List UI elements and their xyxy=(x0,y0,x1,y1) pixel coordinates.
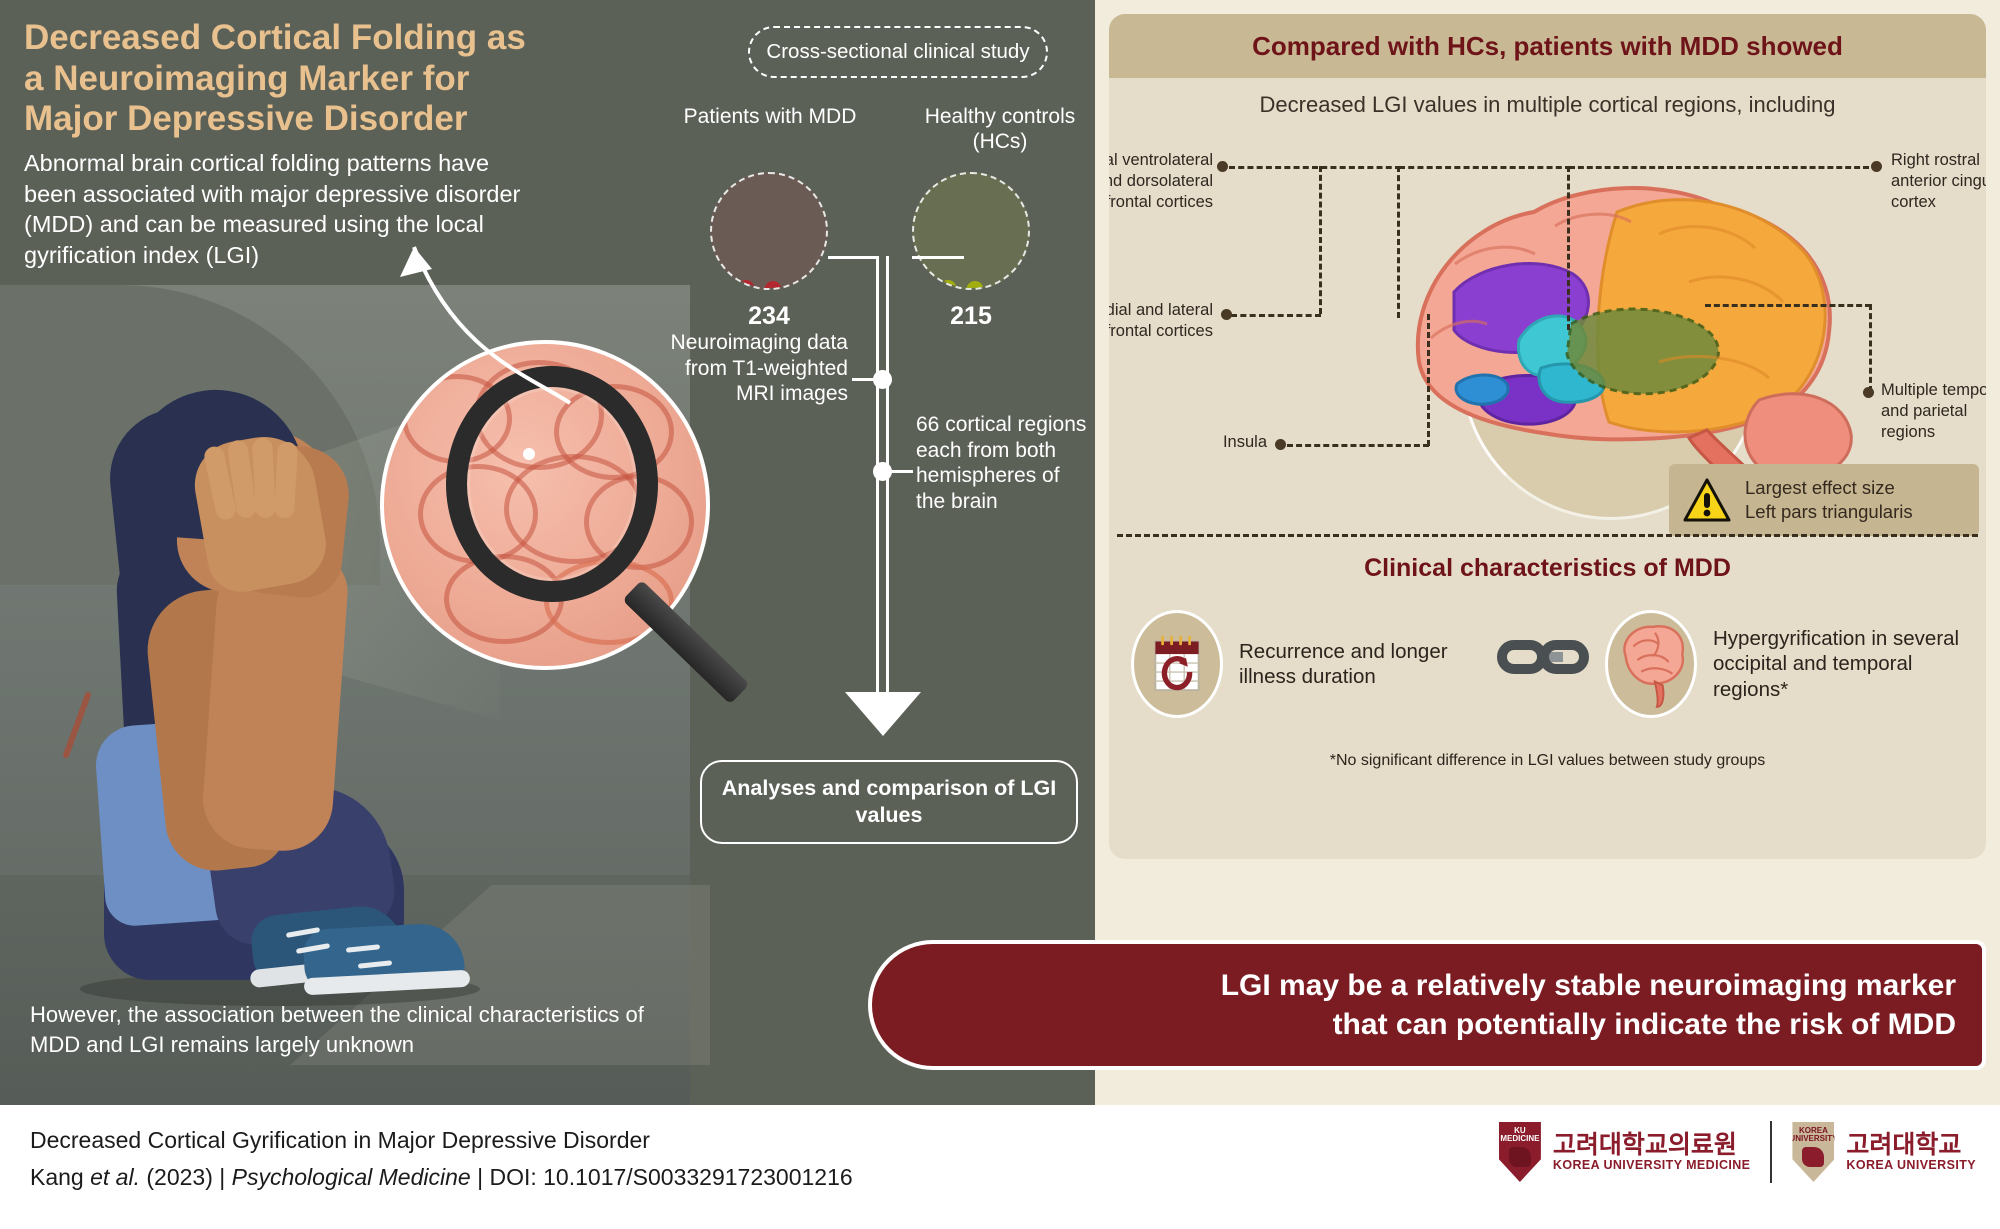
ku-shield-icon: KOREA UNIVERSITY xyxy=(1792,1122,1834,1182)
brain-label-orbitofrontal: Medial and lateral orbitofrontal cortice… xyxy=(1109,300,1213,342)
calendar-glyph xyxy=(1150,632,1204,696)
brain-label-racc: Right rostral anterior cingulate cortex xyxy=(1891,150,1986,213)
brain-lateral-illustration xyxy=(1359,172,1879,502)
group-hc-label: Healthy controls (HCs) xyxy=(895,104,1105,154)
node1-stub xyxy=(852,378,876,381)
leader-line-v-ofc xyxy=(1319,166,1322,314)
marker-dot-prefrontal xyxy=(1217,161,1228,172)
year: (2023) xyxy=(146,1164,212,1190)
warning-icon xyxy=(1683,478,1731,522)
logo2-korean-text: 고려대학교 xyxy=(1846,1132,1976,1158)
leader-line-v-prefrontal2 xyxy=(1397,166,1400,318)
group-hc-icon-circle xyxy=(912,172,1030,290)
brain-label-temporal-parietal: Multiple temporal and parietal regions xyxy=(1881,380,1986,443)
leader-line-v-temporal xyxy=(1869,304,1872,392)
logo-separator xyxy=(1770,1121,1772,1183)
ku-medicine-shield-text: KU MEDICINE xyxy=(1499,1127,1541,1144)
sep-2: | xyxy=(477,1164,483,1190)
leader-line-v-insula xyxy=(1427,314,1430,446)
effect-line-2: Left pars triangularis xyxy=(1745,500,1913,524)
leader-line-h-ofc xyxy=(1231,314,1321,317)
ku-shield-text: KOREA UNIVERSITY xyxy=(1789,1127,1837,1144)
clinical-characteristics-title: Clinical characteristics of MDD xyxy=(1109,554,1986,583)
clinical-footnote: *No significant difference in LGI values… xyxy=(1109,752,1986,770)
connector-hc xyxy=(912,256,964,259)
brain-label-prefrontal: Bilateral ventrolateral and dorsolateral… xyxy=(1109,150,1213,213)
authors: Kang xyxy=(30,1164,84,1190)
page-subtitle: Abnormal brain cortical folding patterns… xyxy=(24,148,524,270)
page-title: Decreased Cortical Folding as a Neuroima… xyxy=(24,18,544,140)
results-subheader: Decreased LGI values in multiple cortica… xyxy=(1109,92,1986,118)
clinical-item-recurrence: Recurrence and longer illness duration xyxy=(1131,610,1481,718)
tiger-icon-2 xyxy=(1802,1147,1824,1167)
people-group-hc-icon xyxy=(915,214,1027,288)
flow-node-1-text: Neuroimaging data from T1-weighted MRI i… xyxy=(660,330,848,407)
conclusion-line-1: LGI may be a relatively stable neuroimag… xyxy=(1221,966,1956,1005)
calendar-icon xyxy=(1131,610,1223,718)
effect-line-1: Largest effect size xyxy=(1745,476,1913,500)
leader-line-h-insula xyxy=(1287,444,1429,447)
tiger-icon xyxy=(1509,1147,1531,1167)
group-mdd-icon-circle xyxy=(710,172,828,290)
group-hc-count: 215 xyxy=(911,302,1031,331)
people-group-mdd-icon xyxy=(713,214,825,288)
brain-label-insula: Insula xyxy=(1193,432,1267,453)
largest-effect-box: Largest effect size Left pars triangular… xyxy=(1669,464,1979,536)
study-type-pill: Cross-sectional clinical study xyxy=(748,26,1048,78)
logo-korea-university: KOREA UNIVERSITY 고려대학교 KOREA UNIVERSITY xyxy=(1792,1122,1976,1182)
pointer-dot xyxy=(523,448,535,460)
marker-dot-racc xyxy=(1871,161,1882,172)
logo1-english-text: KOREA UNIVERSITY MEDICINE xyxy=(1553,1158,1751,1172)
largest-effect-text: Largest effect size Left pars triangular… xyxy=(1745,476,1913,523)
infographic-root: Decreased Cortical Folding as a Neuroima… xyxy=(0,0,2000,1229)
conclusion-line-2: that can potentially indicate the risk o… xyxy=(1221,1005,1956,1044)
group-mdd-label: Patients with MDD xyxy=(670,104,870,129)
chain-link-icon xyxy=(1497,634,1597,680)
clinical-item-hypergyrification: Hypergyrification in several occipital a… xyxy=(1605,610,1985,718)
conclusion-banner: LGI may be a relatively stable neuroimag… xyxy=(868,940,1986,1070)
logo-group: KU MEDICINE 고려대학교의료원 KOREA UNIVERSITY ME… xyxy=(1499,1121,1976,1183)
sep-1: | xyxy=(219,1164,225,1190)
clinical-characteristics-row: Recurrence and longer illness duration xyxy=(1109,606,1986,741)
logo1-korean-text: 고려대학교의료원 xyxy=(1553,1132,1751,1158)
ku-medicine-shield-icon: KU MEDICINE xyxy=(1499,1122,1541,1182)
citation-line: Kang et al. (2023) | Psychological Medic… xyxy=(30,1164,853,1191)
clinical-item-2-text: Hypergyrification in several occipital a… xyxy=(1713,626,1985,702)
down-arrow-icon xyxy=(845,692,921,736)
leader-line-h-temporal xyxy=(1705,304,1871,307)
et-al: et al. xyxy=(90,1164,140,1190)
citation-block: Decreased Cortical Gyrification in Major… xyxy=(30,1127,853,1191)
clinical-item-1-text: Recurrence and longer illness duration xyxy=(1239,639,1481,690)
brain-glyph xyxy=(1612,617,1690,711)
leader-line-h-prefrontal-out xyxy=(1229,166,1401,169)
analysis-box: Analyses and comparison of LGI values xyxy=(700,760,1078,844)
marker-dot-insula xyxy=(1275,439,1286,450)
group-mdd-count: 234 xyxy=(709,302,829,331)
left-bottom-note: However, the association between the cli… xyxy=(30,1000,670,1059)
marker-dot-ofc xyxy=(1221,309,1232,320)
paper-title: Decreased Cortical Gyrification in Major… xyxy=(30,1127,853,1154)
results-header: Compared with HCs, patients with MDD sho… xyxy=(1109,14,1986,78)
section-divider xyxy=(1117,534,1978,537)
flow-node-2-text: 66 cortical regions each from both hemis… xyxy=(916,412,1091,514)
connector-mdd xyxy=(828,256,878,259)
logo2-english-text: KOREA UNIVERSITY xyxy=(1846,1158,1976,1172)
footer-bar: Decreased Cortical Gyrification in Major… xyxy=(0,1105,2000,1229)
leader-line-v-prefrontal xyxy=(1567,166,1570,330)
marker-dot-temporal xyxy=(1863,387,1874,398)
results-card: Compared with HCs, patients with MDD sho… xyxy=(1109,14,1986,859)
leader-line-h-racc xyxy=(1569,166,1869,169)
leader-line-h-prefrontal xyxy=(1399,166,1571,169)
brain-icon xyxy=(1605,610,1697,718)
node2-stub xyxy=(889,470,913,473)
logo-korea-university-medicine: KU MEDICINE 고려대학교의료원 KOREA UNIVERSITY ME… xyxy=(1499,1122,1751,1182)
doi[interactable]: DOI: 10.1017/S0033291723001216 xyxy=(489,1164,852,1190)
journal-name: Psychological Medicine xyxy=(232,1164,471,1190)
